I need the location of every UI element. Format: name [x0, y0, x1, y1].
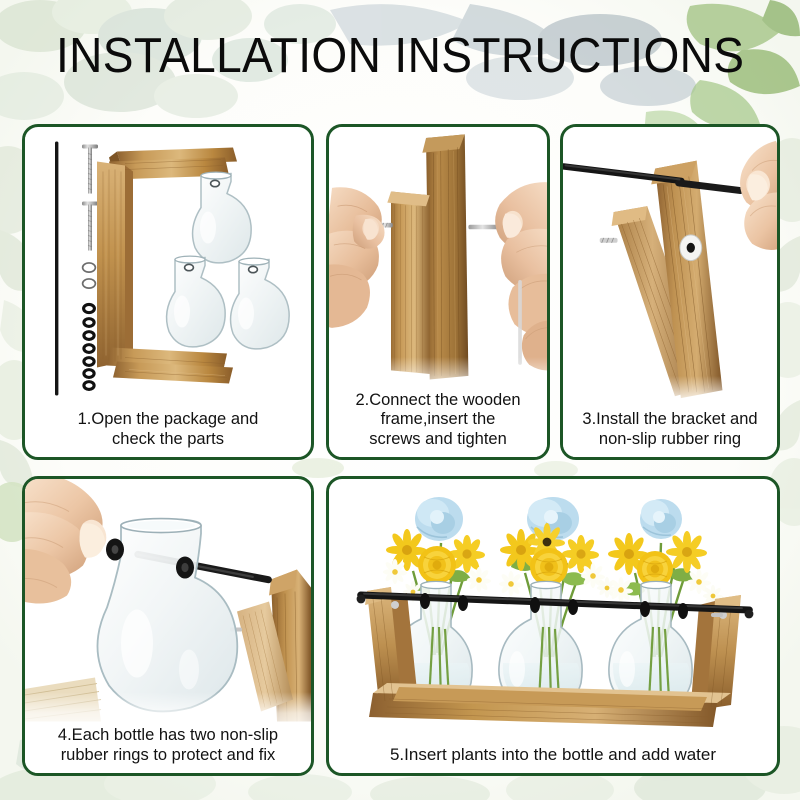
parts-layout-illustration: [25, 127, 311, 408]
header: INSTALLATION INSTRUCTIONS: [0, 0, 800, 112]
finished-product-photo: [329, 479, 777, 743]
rubber-ring-on-bottle-photo: [25, 479, 311, 726]
step-caption-2: 2.Connect the wooden frame,insert the sc…: [329, 357, 547, 457]
step-panel-1: 1.Open the package and check the parts: [22, 124, 314, 460]
step-caption-4: 4.Each bottle has two non-slip rubber ri…: [25, 692, 311, 773]
step-caption-1: 1.Open the package and check the parts: [25, 408, 311, 457]
install-bracket-photo: [563, 127, 777, 410]
infographic-page: INSTALLATION INSTRUCTIONS: [0, 0, 800, 800]
step-panel-4: 4.Each bottle has two non-slip rubber ri…: [22, 476, 314, 776]
steps-grid: 1.Open the package and check the parts: [0, 0, 800, 800]
step-caption-3: 3.Install the bracket and non-slip rubbe…: [563, 376, 777, 457]
page-title: INSTALLATION INSTRUCTIONS: [56, 32, 744, 81]
step-panel-3: 3.Install the bracket and non-slip rubbe…: [560, 124, 780, 460]
step-caption-5: 5.Insert plants into the bottle and add …: [329, 743, 777, 773]
connect-frame-photo: [329, 127, 547, 391]
step-panel-5: 5.Insert plants into the bottle and add …: [326, 476, 780, 776]
step-panel-2: 2.Connect the wooden frame,insert the sc…: [326, 124, 550, 460]
